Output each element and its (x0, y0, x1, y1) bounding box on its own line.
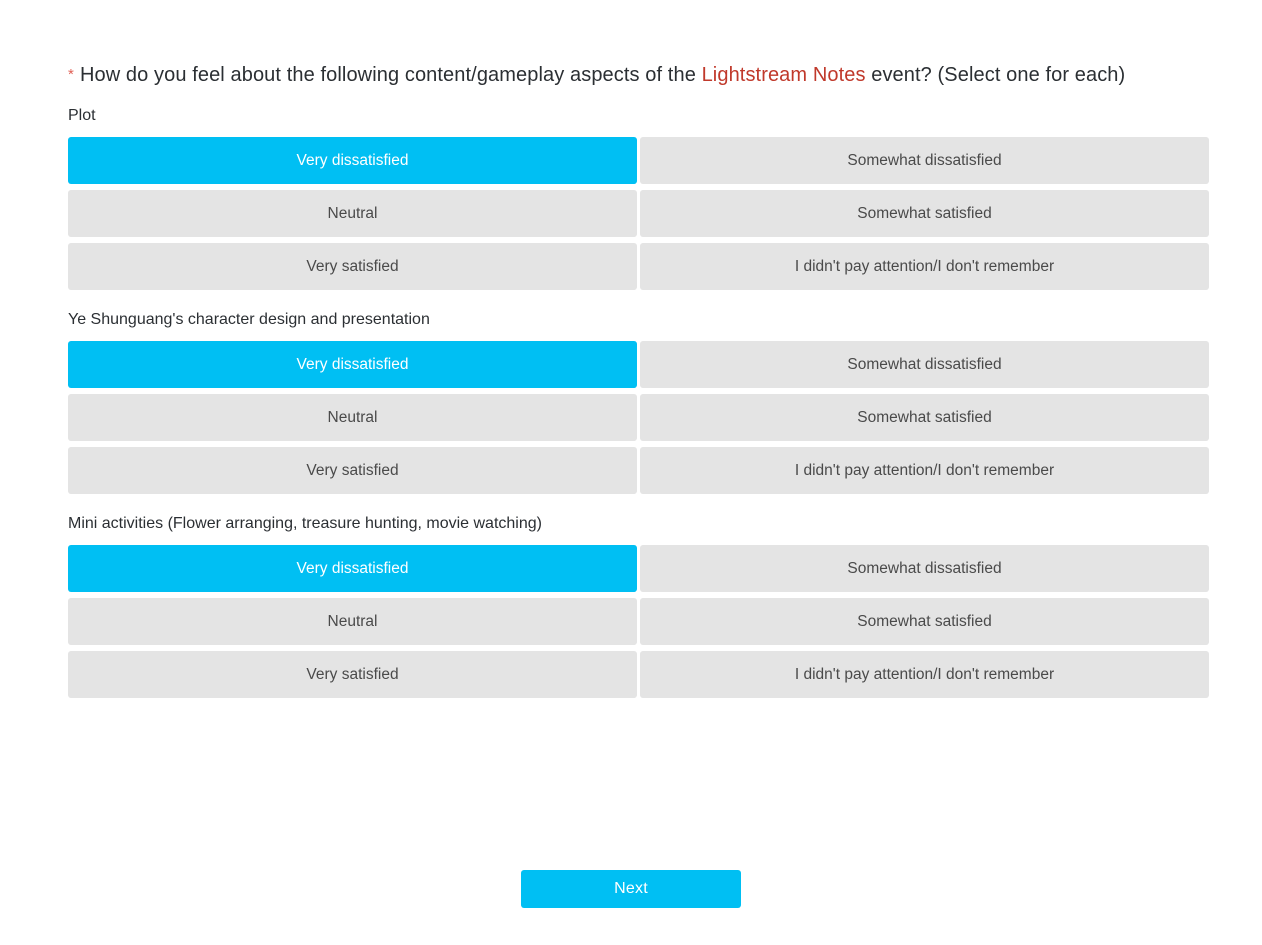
option-neutral[interactable]: Neutral (68, 394, 637, 441)
rating-block-label: Mini activities (Flower arranging, treas… (68, 512, 1206, 536)
option-very-satisfied[interactable]: Very satisfied (68, 651, 637, 698)
option-somewhat-dissatisfied[interactable]: Somewhat dissatisfied (640, 545, 1209, 592)
rating-block-label: Ye Shunguang's character design and pres… (68, 308, 1206, 332)
option-somewhat-dissatisfied[interactable]: Somewhat dissatisfied (640, 341, 1209, 388)
option-no-attention[interactable]: I didn't pay attention/I don't remember (640, 651, 1209, 698)
option-very-dissatisfied[interactable]: Very dissatisfied (68, 341, 637, 388)
rating-block-plot: Plot Very dissatisfied Somewhat dissatis… (68, 104, 1206, 290)
option-very-dissatisfied[interactable]: Very dissatisfied (68, 137, 637, 184)
question-heading: *How do you feel about the following con… (68, 56, 1206, 94)
option-neutral[interactable]: Neutral (68, 190, 637, 237)
option-somewhat-satisfied[interactable]: Somewhat satisfied (640, 598, 1209, 645)
option-no-attention[interactable]: I didn't pay attention/I don't remember (640, 447, 1209, 494)
option-neutral[interactable]: Neutral (68, 598, 637, 645)
required-asterisk-icon: * (68, 66, 74, 83)
options-grid: Very dissatisfied Somewhat dissatisfied … (68, 341, 1209, 494)
option-no-attention[interactable]: I didn't pay attention/I don't remember (640, 243, 1209, 290)
options-grid: Very dissatisfied Somewhat dissatisfied … (68, 545, 1209, 698)
next-button[interactable]: Next (521, 870, 741, 908)
question-text-after: event? (Select one for each) (866, 64, 1126, 86)
survey-page: *How do you feel about the following con… (0, 0, 1262, 945)
form-footer: Next (0, 870, 1262, 908)
option-somewhat-satisfied[interactable]: Somewhat satisfied (640, 190, 1209, 237)
rating-block-character-design: Ye Shunguang's character design and pres… (68, 308, 1206, 494)
option-very-satisfied[interactable]: Very satisfied (68, 243, 637, 290)
option-somewhat-satisfied[interactable]: Somewhat satisfied (640, 394, 1209, 441)
question-text-before: How do you feel about the following cont… (80, 64, 702, 86)
option-very-dissatisfied[interactable]: Very dissatisfied (68, 545, 637, 592)
options-grid: Very dissatisfied Somewhat dissatisfied … (68, 137, 1209, 290)
option-very-satisfied[interactable]: Very satisfied (68, 447, 637, 494)
survey-form: *How do you feel about the following con… (68, 56, 1206, 698)
rating-block-label: Plot (68, 104, 1206, 128)
option-somewhat-dissatisfied[interactable]: Somewhat dissatisfied (640, 137, 1209, 184)
rating-block-mini-activities: Mini activities (Flower arranging, treas… (68, 512, 1206, 698)
question-highlight-term: Lightstream Notes (702, 64, 866, 86)
